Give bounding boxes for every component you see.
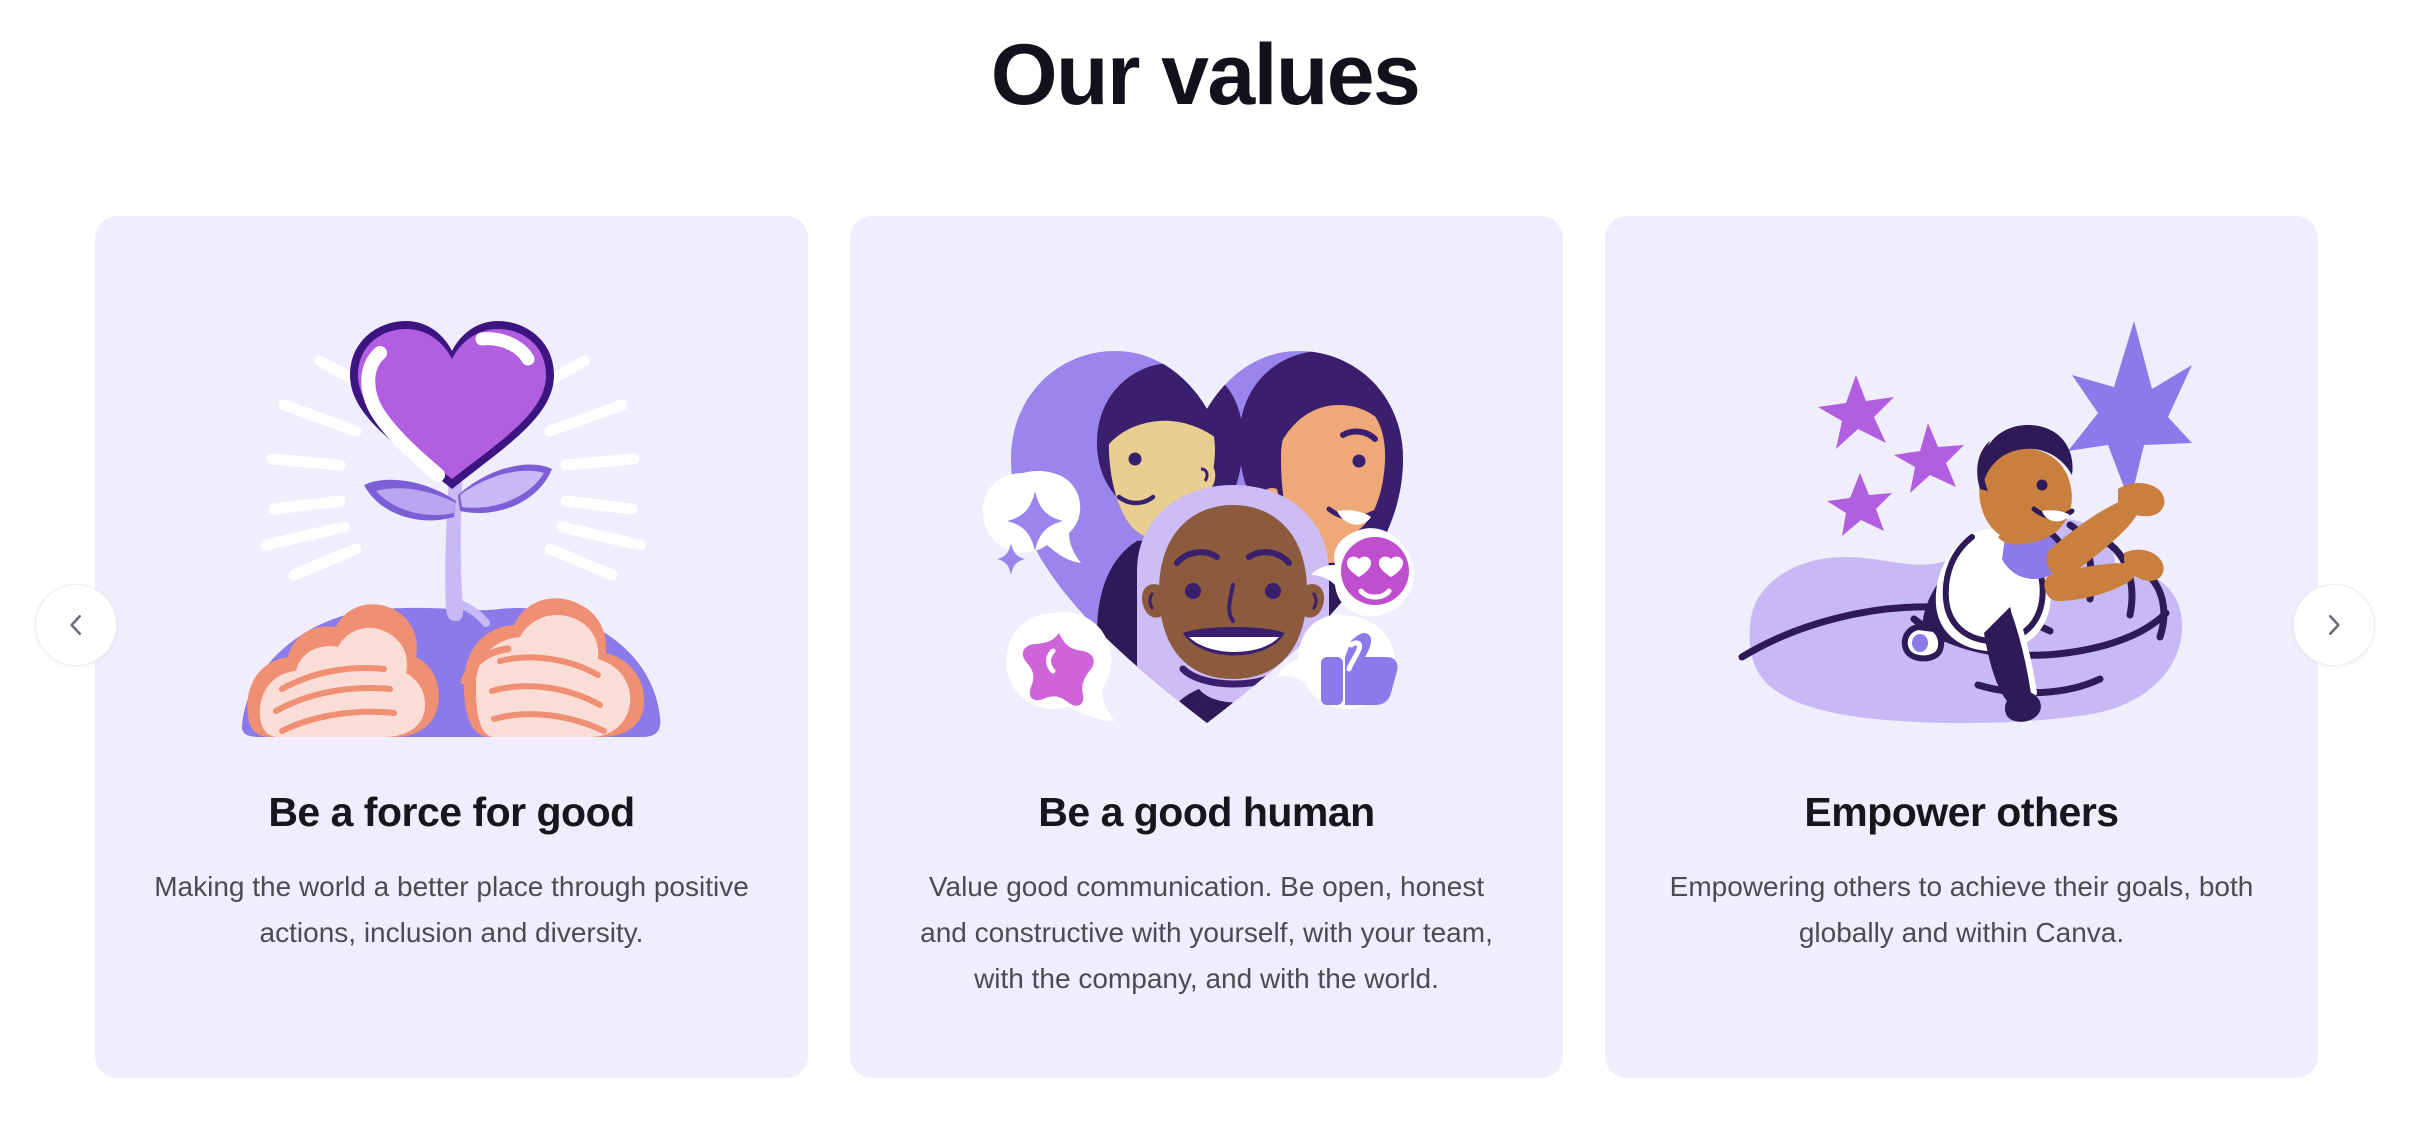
values-carousel[interactable]: Be a force for good Making the world a b… <box>95 216 2319 1078</box>
carousel-prev-button[interactable] <box>35 584 117 666</box>
heart-plant-in-hands-illustration <box>95 258 808 798</box>
card-description: Empowering others to achieve their goals… <box>1605 864 2318 956</box>
carousel-next-button[interactable] <box>2293 584 2375 666</box>
three-faces-in-heart-illustration <box>850 258 1563 798</box>
chevron-right-icon <box>2319 610 2349 640</box>
card-title: Be a good human <box>850 787 1563 837</box>
card-title: Empower others <box>1605 787 2318 837</box>
card-description: Making the world a better place through … <box>95 864 808 956</box>
person-reaching-star-on-hand-illustration <box>1605 258 2318 798</box>
chevron-left-icon <box>61 610 91 640</box>
card-title: Be a force for good <box>95 787 808 837</box>
page-title: Our values <box>0 22 2410 128</box>
our-values-section: Our values <box>0 0 2410 1134</box>
card-description: Value good communication. Be open, hones… <box>850 864 1563 1002</box>
value-card[interactable]: Be a good human Value good communication… <box>850 216 1563 1078</box>
value-card[interactable]: Empower others Empowering others to achi… <box>1605 216 2318 1078</box>
value-card[interactable]: Be a force for good Making the world a b… <box>95 216 808 1078</box>
